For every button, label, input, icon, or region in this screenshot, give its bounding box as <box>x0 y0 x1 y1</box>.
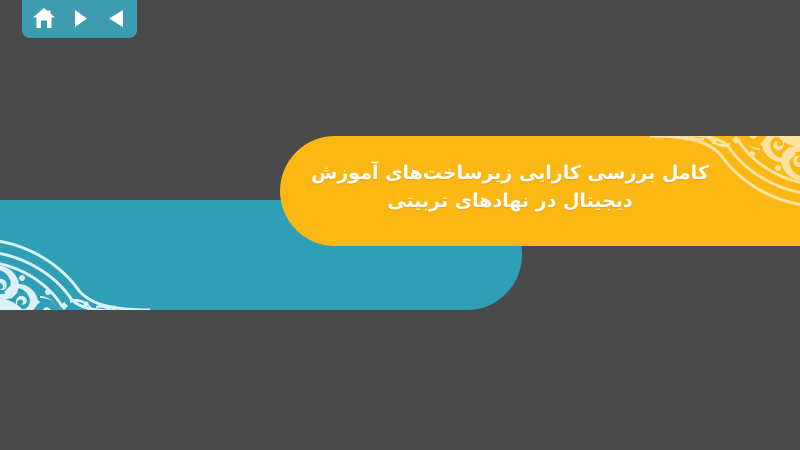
orange-banner <box>280 136 800 246</box>
home-button[interactable] <box>32 6 56 30</box>
triangle-right-icon <box>74 9 88 28</box>
orange-arabesque-ornament <box>650 136 800 246</box>
teal-arabesque-ornament <box>0 200 150 310</box>
previous-slide-button[interactable] <box>106 6 128 30</box>
slide-navigation-bar <box>22 0 137 38</box>
slide-canvas: کامل بررسی کارایی زیرساخت‌های آموزش دیجی… <box>0 0 800 450</box>
home-icon <box>32 7 56 29</box>
next-slide-button[interactable] <box>70 6 92 30</box>
triangle-left-icon <box>108 9 125 28</box>
